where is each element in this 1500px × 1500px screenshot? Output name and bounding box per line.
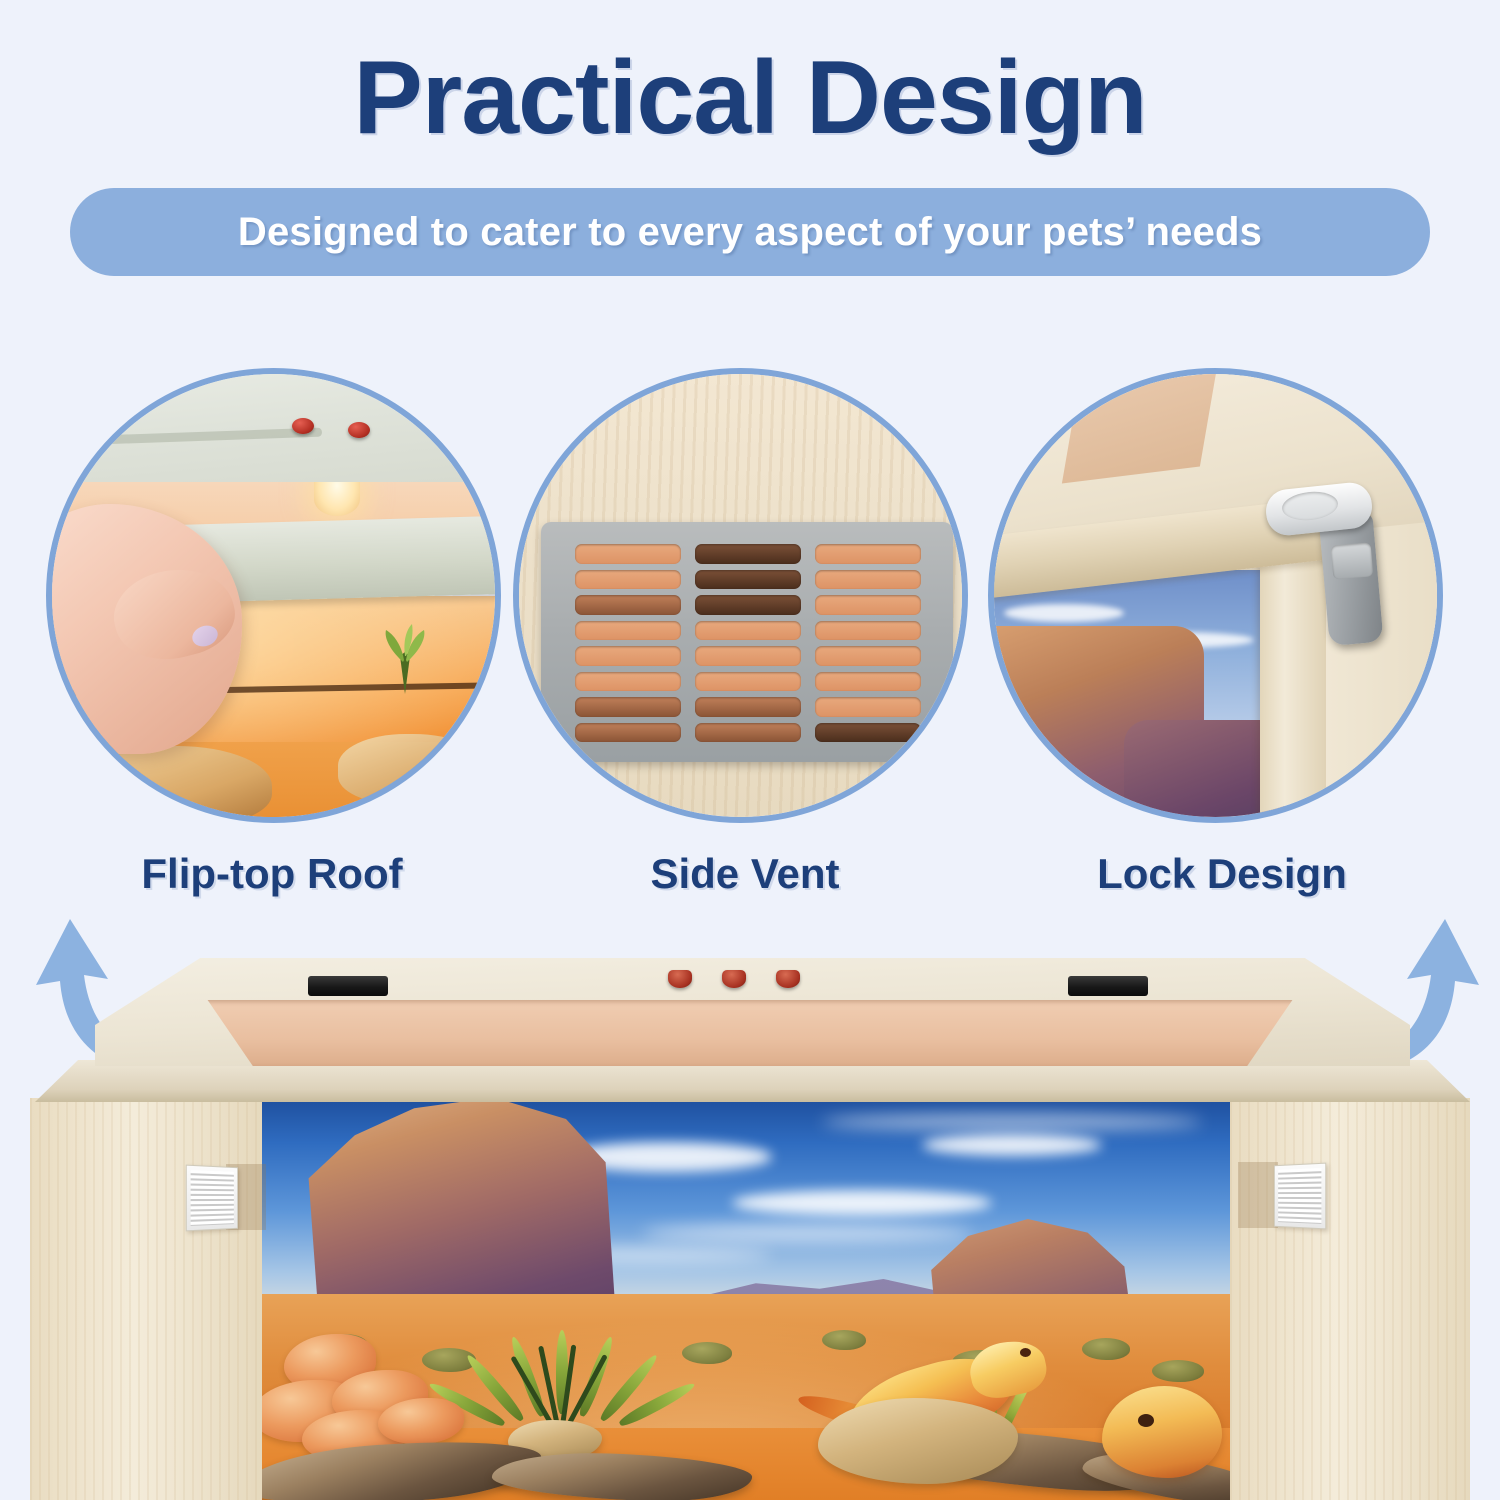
flip-top-roof-photo bbox=[52, 374, 495, 817]
feature-circle-side-vent bbox=[513, 368, 968, 823]
lid-knob-icon bbox=[722, 970, 746, 988]
feature-label-lock-design: Lock Design bbox=[972, 850, 1472, 898]
corner-post bbox=[1260, 544, 1330, 817]
vent-slot bbox=[575, 723, 681, 743]
vent-slot bbox=[815, 544, 921, 564]
page-title: Practical Design bbox=[0, 44, 1500, 153]
vent-slot bbox=[815, 697, 921, 717]
heat-lamp-icon bbox=[314, 482, 360, 516]
cloud-wisp bbox=[642, 1224, 972, 1242]
basking-rock bbox=[818, 1398, 1018, 1484]
subtitle-text: Designed to cater to every aspect of you… bbox=[238, 210, 1262, 255]
vent-slats bbox=[1278, 1168, 1321, 1224]
vent-slot bbox=[575, 697, 681, 717]
cloud bbox=[1004, 604, 1124, 622]
cloud bbox=[922, 1134, 1102, 1156]
tank-plant-icon bbox=[370, 622, 440, 694]
vent-slot bbox=[815, 570, 921, 590]
right-wood-panel bbox=[1230, 1098, 1470, 1500]
vent-slot bbox=[695, 595, 801, 615]
cloud bbox=[732, 1190, 992, 1216]
desert-bush bbox=[1152, 1360, 1204, 1382]
hinge-icon bbox=[308, 976, 388, 996]
vent-slot bbox=[695, 672, 801, 692]
dragon-eye bbox=[1020, 1348, 1031, 1357]
lid-knob-icon bbox=[668, 970, 692, 988]
side-vent-photo bbox=[519, 374, 962, 817]
lid-knob-icon bbox=[776, 970, 800, 988]
tank-rock-secondary bbox=[338, 734, 488, 804]
vent-slot bbox=[695, 621, 801, 641]
desert-bush bbox=[682, 1342, 732, 1364]
lock-body bbox=[1318, 512, 1383, 646]
lid-cutout bbox=[1062, 374, 1216, 483]
vent-slot bbox=[815, 621, 921, 641]
lid-knob-icon bbox=[348, 422, 370, 438]
vent-slats bbox=[191, 1170, 234, 1226]
enclosure-body bbox=[30, 1098, 1470, 1500]
right-vent-recess bbox=[1238, 1162, 1278, 1228]
lid-screen-recess bbox=[185, 1000, 1315, 1066]
vent-slot bbox=[575, 646, 681, 666]
vent-slot bbox=[695, 544, 801, 564]
vent-slot bbox=[575, 544, 681, 564]
vent-slot bbox=[695, 697, 801, 717]
tank-rock bbox=[82, 746, 272, 817]
left-panel-vent bbox=[186, 1165, 238, 1232]
vent-slot bbox=[815, 595, 921, 615]
vent-slot bbox=[815, 646, 921, 666]
lock-clip bbox=[1331, 542, 1374, 579]
backdrop-scene bbox=[994, 570, 1284, 817]
vent-slot bbox=[695, 723, 801, 743]
lid-knob-icon bbox=[292, 418, 314, 434]
second-reptile-eye bbox=[1138, 1414, 1154, 1427]
lid-top-surface bbox=[52, 374, 495, 482]
product-photo bbox=[0, 948, 1500, 1500]
left-wood-panel bbox=[30, 1098, 262, 1500]
feature-circle-flip-top-roof bbox=[46, 368, 501, 823]
cloud-wisp bbox=[822, 1114, 1202, 1130]
feature-label-side-vent: Side Vent bbox=[495, 850, 995, 898]
vent-slot bbox=[815, 723, 921, 743]
feature-label-flip-top-roof: Flip-top Roof bbox=[22, 850, 522, 898]
vent-slot bbox=[695, 570, 801, 590]
right-panel-vent bbox=[1274, 1163, 1326, 1230]
vent-slot-grid bbox=[575, 544, 921, 742]
vent-slot bbox=[575, 621, 681, 641]
vent-slot bbox=[575, 595, 681, 615]
lock-design-photo bbox=[994, 374, 1437, 817]
vent-slot bbox=[575, 672, 681, 692]
feature-circle-lock-design bbox=[988, 368, 1443, 823]
vent-slot bbox=[695, 646, 801, 666]
vent-slot bbox=[815, 672, 921, 692]
subtitle-banner: Designed to cater to every aspect of you… bbox=[70, 188, 1430, 276]
vent-slot bbox=[575, 570, 681, 590]
hinge-icon bbox=[1068, 976, 1148, 996]
lid-front-edge bbox=[35, 1060, 1470, 1102]
terrarium-scene bbox=[262, 1098, 1230, 1500]
vent-grille bbox=[541, 522, 953, 762]
